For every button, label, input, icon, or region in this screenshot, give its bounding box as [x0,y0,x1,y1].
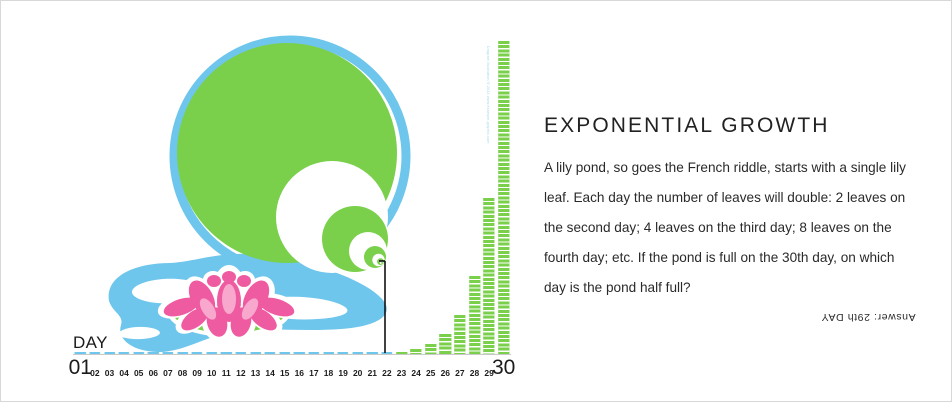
day-tick-11: 11 [222,368,231,379]
day-tick-12: 12 [236,368,245,379]
day-tick-28: 28 [470,368,479,379]
answer-text: Answer: 29th DAY [821,311,916,323]
day-tick-30: 30 [492,357,515,379]
day-tick-25: 25 [426,368,435,379]
day-tick-07: 07 [163,368,172,379]
day-tick-23: 23 [397,368,406,379]
day-tick-03: 03 [105,368,114,379]
day-tick-04: 04 [119,368,128,379]
day-tick-27: 27 [455,368,464,379]
day-tick-13: 13 [251,368,260,379]
day-axis-label: DAY [73,333,108,353]
day-tick-15: 15 [280,368,289,379]
riddle-body-text: A lily pond, so goes the French riddle, … [544,153,916,303]
day-tick-21: 21 [368,368,377,379]
exponential-bar-chart [73,41,511,354]
bar-day-29 [483,198,494,355]
text-panel: EXPONENTIAL GROWTH A lily pond, so goes … [544,113,916,303]
day-tick-06: 06 [149,368,158,379]
day-tick-09: 09 [192,368,201,379]
day-tick-26: 26 [441,368,450,379]
page-title: EXPONENTIAL GROWTH [544,113,916,139]
day-tick-14: 14 [265,368,274,379]
day-tick-02: 02 [90,368,99,379]
credit-text: Diagram illustration © 2014 www.example-… [486,46,490,126]
day-tick-10: 10 [207,368,216,379]
day-tick-22: 22 [382,368,391,379]
day-axis: DAY 010203040506070809101112131415161718… [73,333,511,379]
day-tick-16: 16 [295,368,304,379]
day-tick-08: 08 [178,368,187,379]
bar-day-30 [498,41,509,354]
day-tick-19: 19 [338,368,347,379]
infographic-canvas: Diagram illustration © 2014 www.example-… [0,0,952,402]
day-tick-24: 24 [411,368,420,379]
day-tick-05: 05 [134,368,143,379]
day-tick-18: 18 [324,368,333,379]
day-tick-01: 01 [69,357,92,379]
day-tick-17: 17 [309,368,318,379]
day-tick-list: 0102030405060708091011121314151617181920… [73,355,511,379]
day-tick-20: 20 [353,368,362,379]
